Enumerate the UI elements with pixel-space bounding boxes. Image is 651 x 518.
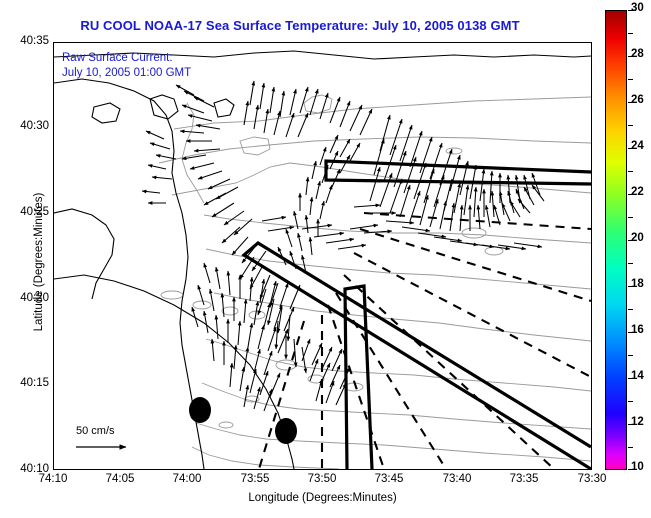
x-tick-label: 73:45 [359,473,419,485]
colorbar-tick-label: 16 [631,324,644,336]
colorbar-tick-label: 18 [631,278,644,290]
y-axis-title: Latitude (Degrees:Minutes) [33,162,45,362]
x-tick-label: 73:55 [225,473,285,485]
map-plot-area[interactable]: Raw Surface Current: July 10, 2005 01:00… [53,42,592,470]
x-tick-label: 74:05 [90,473,150,485]
colorbar-tick-label: 26 [631,94,644,106]
bathymetry-contours [159,95,591,469]
surface-current-vectors [142,81,544,411]
x-axis-ticks: 74:10 74:05 74:00 73:55 73:50 73:45 73:4… [53,473,592,491]
coastline [54,51,591,469]
colorbar-tick-label: 12 [631,416,644,428]
x-tick-label: 73:30 [562,473,622,485]
y-tick-label: 40:30 [3,120,49,132]
station-marker [189,397,211,423]
colorbar-tick-label: 30 [631,2,644,14]
colorbar-tick-label: 24 [631,140,644,152]
station-marker [275,418,297,444]
x-tick-label: 73:35 [494,473,554,485]
x-tick-label: 74:00 [157,473,217,485]
colorbar-tick-label: 22 [631,186,644,198]
colorbar-tick-label: 28 [631,48,644,60]
vector-scale-key: 50 cm/s [64,425,174,460]
x-tick-label: 73:50 [292,473,352,485]
station-markers [189,397,297,444]
colorbar-tick-label: 10 [631,461,644,473]
colorbar-tick-label: 20 [631,232,644,244]
colorbar-ticks: 30 28 26 24 22 20 18 16 14 12 10 [605,10,651,470]
sst-current-map-figure: RU COOL NOAA-17 Sea Surface Temperature:… [0,0,651,518]
vector-scale-label: 50 cm/s [76,425,174,437]
vector-scale-arrow-icon [64,437,164,457]
x-tick-label: 74:10 [23,473,83,485]
colorbar-tick-label: 14 [631,370,644,382]
y-tick-label: 40:35 [3,35,49,47]
x-tick-label: 73:40 [427,473,487,485]
radar-sector-wedges [244,161,591,469]
map-canvas [54,43,591,469]
x-axis-title: Longitude (Degrees:Minutes) [53,492,592,504]
y-tick-label: 40:15 [3,377,49,389]
page-title: RU COOL NOAA-17 Sea Surface Temperature:… [0,18,600,33]
